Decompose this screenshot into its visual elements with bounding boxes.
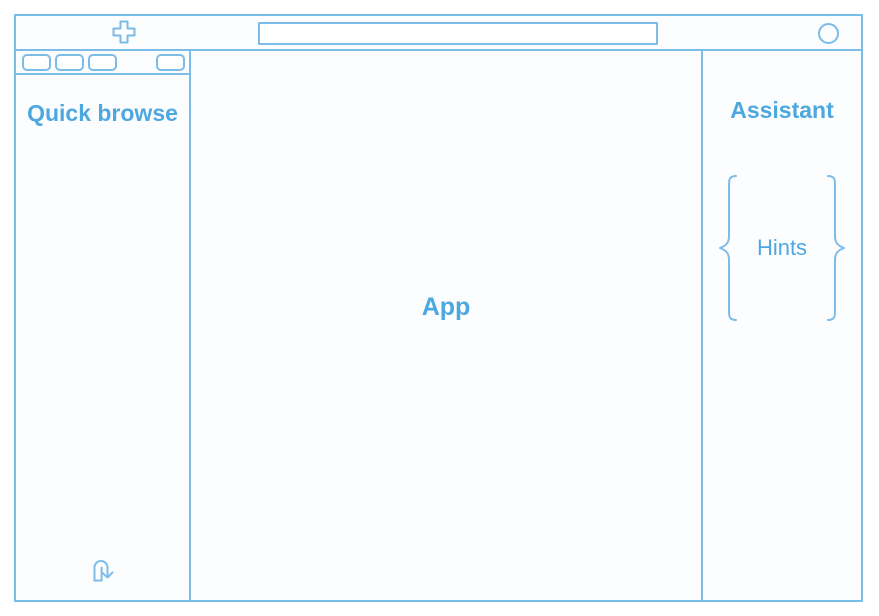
sidebar-spacer: [16, 128, 189, 536]
add-tab-button[interactable]: [102, 20, 146, 48]
sidebar-footer: [16, 536, 189, 600]
tab-chip-1[interactable]: [22, 54, 51, 71]
tab-chip-3[interactable]: [88, 54, 117, 71]
top-bar: [16, 16, 861, 51]
curly-brace-left-icon: [717, 174, 739, 322]
browser-window-frame: Quick browse: [14, 14, 863, 602]
url-bar[interactable]: [258, 22, 658, 45]
curly-brace-right-icon: [825, 174, 847, 322]
tab-chip-2[interactable]: [55, 54, 84, 71]
sidebar-title: Quick browse: [26, 99, 179, 128]
wireframe-canvas: Quick browse: [0, 0, 879, 616]
app-content-area[interactable]: App: [191, 51, 703, 600]
undo-button[interactable]: [88, 556, 122, 588]
window-body: Quick browse: [16, 51, 861, 600]
hints-label: Hints: [757, 235, 807, 261]
assistant-panel: Assistant Hints: [703, 51, 861, 600]
sidebar-quick-browse: Quick browse: [16, 51, 191, 600]
app-label: App: [422, 293, 471, 322]
plus-icon: [111, 19, 137, 50]
u-turn-arrow-icon: [90, 556, 120, 589]
circle-avatar-icon[interactable]: [818, 23, 839, 44]
sidebar-content: Quick browse: [16, 75, 189, 600]
sidebar-tab-strip: [16, 51, 189, 75]
url-input[interactable]: [260, 24, 656, 43]
tab-chip-4[interactable]: [156, 54, 185, 71]
hints-block: Hints: [717, 174, 847, 322]
assistant-title: Assistant: [730, 97, 834, 124]
